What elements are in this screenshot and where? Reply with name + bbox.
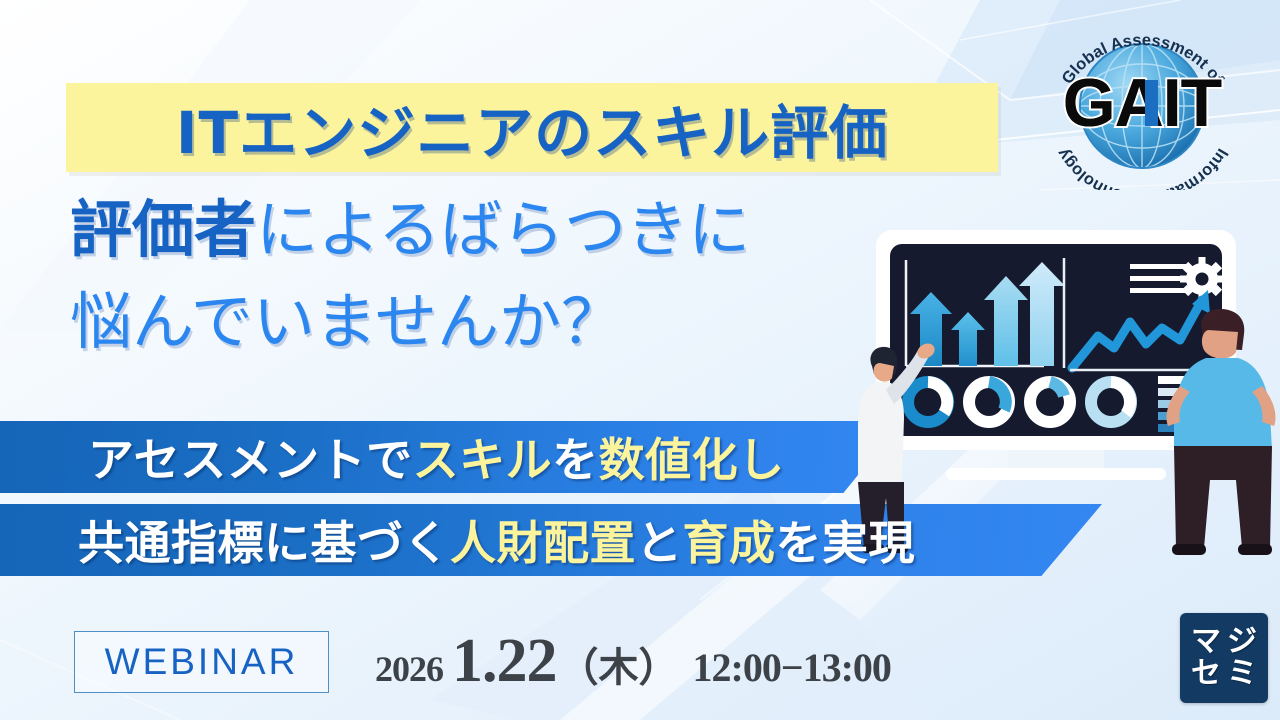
headline-line-1-strong: 評価者 [70, 193, 256, 266]
person-right-shoe-2 [1238, 544, 1272, 555]
menu-lines-icon [1130, 264, 1188, 293]
event-year: 2026 [375, 648, 443, 690]
majisemi-logo-row-2: セ ミ [1188, 658, 1260, 690]
gear-icon [1180, 257, 1224, 301]
value-bar-primary: アセスメントでスキルを数値化し [0, 421, 902, 493]
person-right-shirt [1174, 358, 1272, 450]
event-day-of-week: （木） [559, 635, 679, 693]
bar2-seg-0: 共通指標に基づく [78, 516, 450, 570]
bar2-seg-2: と [636, 516, 683, 570]
headline-line-2: 悩んでいませんか？ [70, 290, 623, 354]
webinar-badge: WEBINAR [74, 631, 329, 693]
webinar-badge-label: WEBINAR [105, 641, 299, 683]
headline-line-1-rest: によるばらつきに [256, 193, 750, 266]
event-datetime: 2026 1.22 （木） 12:00−13:00 [375, 626, 891, 697]
monitor-base [946, 468, 1166, 480]
gait-logo: Global Assessment of Information Technol… [1035, 18, 1250, 190]
event-month-day: 1.22 [452, 626, 557, 697]
footer-row: WEBINAR 2026 1.22 （木） 12:00−13:00 [74, 626, 891, 697]
page-title: ITエンジニアのスキル評価 [66, 83, 998, 172]
majisemi-char-1: マ [1188, 626, 1224, 658]
person-right-pants [1174, 446, 1272, 548]
gait-wordmark: GAIT [1063, 65, 1222, 141]
value-bar-primary-text: アセスメントでスキルを数値化し [88, 424, 785, 490]
bar1-seg-2: を [552, 433, 599, 487]
bar1-seg-0: アセスメントで [88, 433, 413, 487]
bar2-seg-4: を実現 [776, 516, 916, 570]
bar2-seg-1: 人財配置 [450, 516, 636, 570]
webinar-banner: ITエンジニアのスキル評価 評価者によるばらつきに 悩んでいませんか？ アセスメ… [0, 0, 1280, 720]
majisemi-char-4: ミ [1224, 658, 1260, 690]
majisemi-char-3: セ [1188, 658, 1224, 690]
event-time-range: 12:00−13:00 [693, 644, 891, 691]
bar2-seg-3: 育成 [683, 516, 776, 570]
illustration-svg [858, 218, 1280, 580]
majisemi-char-2: ジ [1224, 626, 1260, 658]
gait-logo-svg: Global Assessment of Information Technol… [1035, 18, 1250, 190]
person-right-shoe-1 [1172, 544, 1206, 555]
majisemi-logo: マ ジ セ ミ [1180, 613, 1268, 703]
headline-line-1: 評価者によるばらつきに [70, 198, 750, 262]
dashboard-illustration [858, 218, 1280, 580]
gait-wordmark-i-accent [1145, 80, 1158, 126]
value-bar-secondary-text: 共通指標に基づく人財配置と育成を実現 [78, 507, 915, 573]
majisemi-logo-row-1: マ ジ [1188, 626, 1260, 658]
bar1-seg-1: スキル [413, 433, 553, 487]
monitor-neck [1008, 450, 1104, 468]
bar1-seg-3: 数値化し [599, 433, 785, 487]
